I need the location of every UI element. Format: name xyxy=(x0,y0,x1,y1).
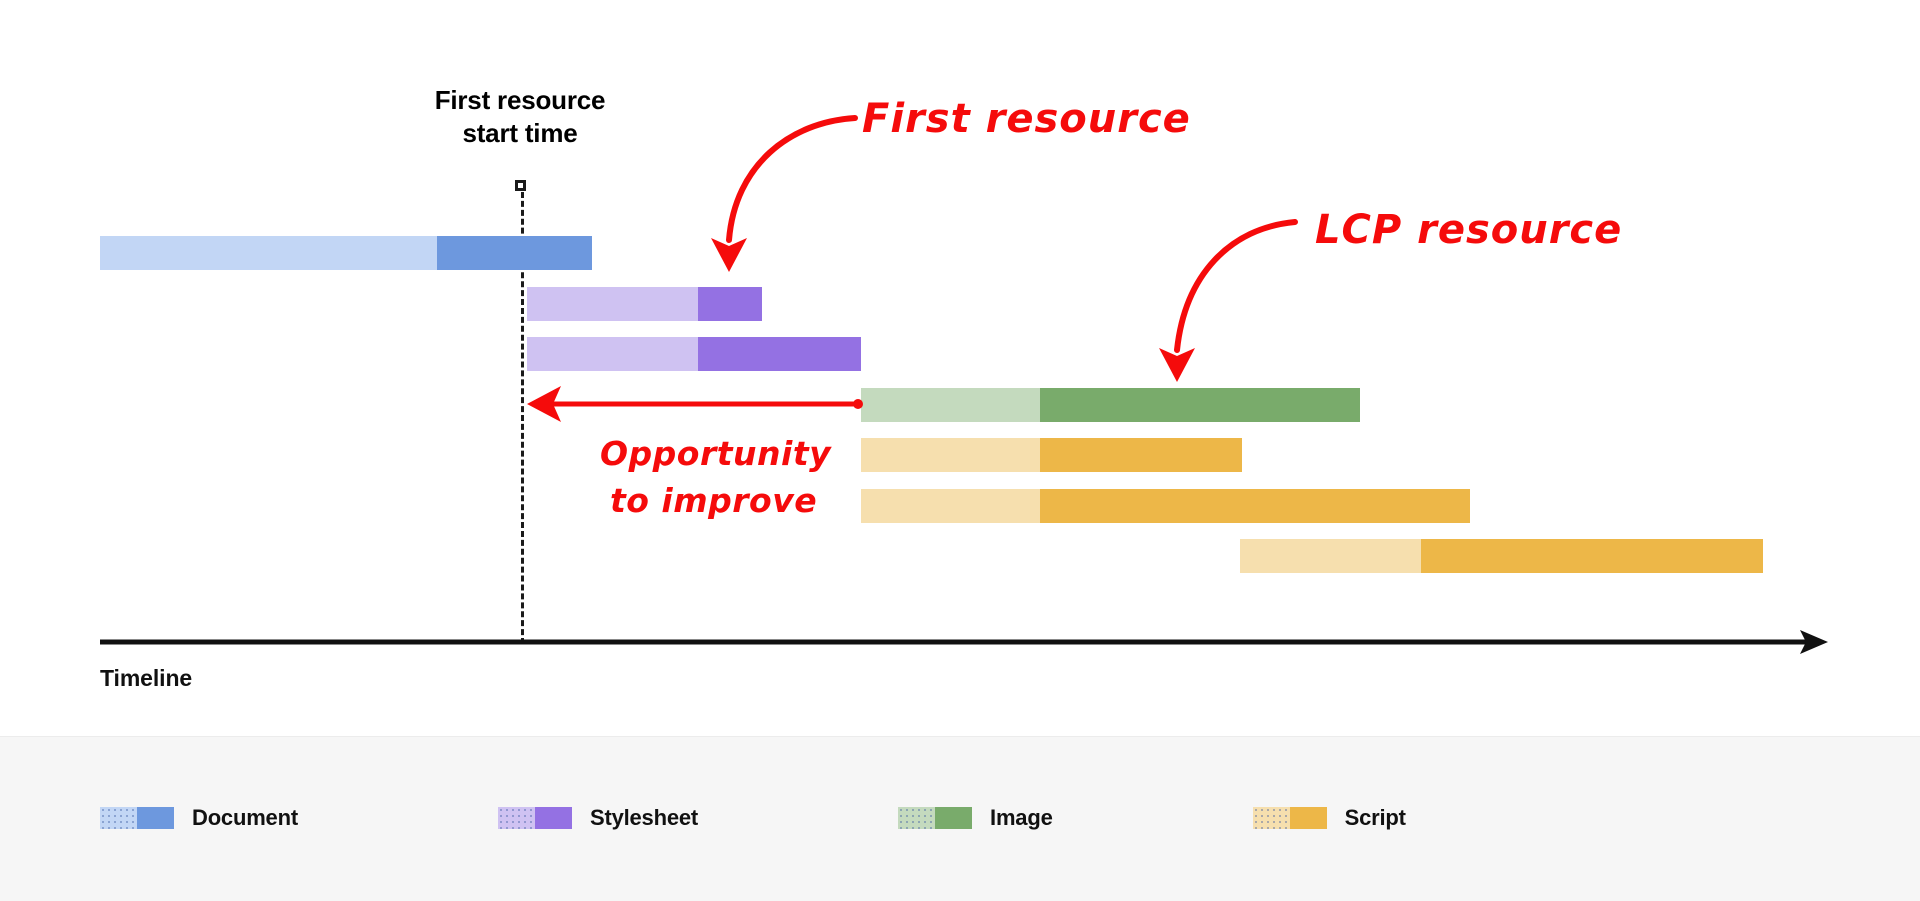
resource-bar[interactable] xyxy=(100,236,592,270)
legend-swatch-dark xyxy=(1290,807,1327,829)
bar-segment-wait xyxy=(100,236,437,270)
bar-segment-load xyxy=(1421,539,1763,573)
bar-segment-wait xyxy=(861,438,1040,472)
legend-swatch-light xyxy=(498,807,535,829)
legend-label: Image xyxy=(990,805,1053,831)
resource-bar[interactable] xyxy=(861,489,1470,523)
legend-swatch-icon xyxy=(100,807,174,829)
marker-handle-icon[interactable] xyxy=(515,180,526,191)
opportunity-callout-line-1: Opportunity xyxy=(600,434,832,473)
bar-segment-load xyxy=(437,236,592,270)
resource-bar[interactable] xyxy=(861,388,1360,422)
legend-label: Script xyxy=(1345,805,1406,831)
bar-segment-load xyxy=(1040,388,1360,422)
legend-items: DocumentStylesheetImageScript xyxy=(100,805,1406,831)
first-resource-start-time-label: First resource start time xyxy=(370,84,670,151)
legend-swatch-light xyxy=(1253,807,1290,829)
legend-swatch-dark xyxy=(137,807,174,829)
bar-segment-wait xyxy=(1240,539,1421,573)
marker-label-line-2: start time xyxy=(370,117,670,150)
bar-segment-wait xyxy=(527,287,698,321)
first-resource-callout-text: First resource xyxy=(862,96,1191,142)
legend-swatch-icon xyxy=(498,807,572,829)
bar-segment-load xyxy=(1040,489,1470,523)
legend-item-script[interactable]: Script xyxy=(1253,805,1406,831)
legend-swatch-light xyxy=(898,807,935,829)
timeline-axis xyxy=(100,630,1828,654)
waterfall-diagram: First resource start time First r xyxy=(0,0,1920,900)
bar-segment-wait xyxy=(527,337,698,371)
resource-bar[interactable] xyxy=(1240,539,1763,573)
legend-swatch-dark xyxy=(935,807,972,829)
marker-label-line-1: First resource xyxy=(370,84,670,117)
legend-swatch-dark xyxy=(535,807,572,829)
bar-segment-wait xyxy=(861,388,1040,422)
timeline-axis-label: Timeline xyxy=(100,665,192,692)
resource-bar[interactable] xyxy=(527,337,861,371)
legend-item-stylesheet[interactable]: Stylesheet xyxy=(498,805,698,831)
opportunity-arrow xyxy=(527,386,863,422)
legend-swatch-icon xyxy=(898,807,972,829)
resource-bar[interactable] xyxy=(527,287,762,321)
annotation-overlay: First resource LCP resource Opportunity … xyxy=(0,0,1920,736)
lcp-resource-callout-text: LCP resource xyxy=(1315,207,1622,253)
chart-plot-area: First resource start time First r xyxy=(0,0,1920,736)
first-resource-callout-arrow xyxy=(711,118,855,272)
legend-label: Stylesheet xyxy=(590,805,698,831)
resource-bar[interactable] xyxy=(861,438,1242,472)
legend-item-document[interactable]: Document xyxy=(100,805,298,831)
legend-item-image[interactable]: Image xyxy=(898,805,1053,831)
lcp-resource-callout-arrow xyxy=(1159,222,1295,382)
bar-segment-load xyxy=(1040,438,1242,472)
bar-segment-load xyxy=(698,287,762,321)
opportunity-callout-line-2: to improve xyxy=(610,481,817,520)
legend-swatch-light xyxy=(100,807,137,829)
legend-swatch-icon xyxy=(1253,807,1327,829)
legend-label: Document xyxy=(192,805,298,831)
legend-bar: DocumentStylesheetImageScript xyxy=(0,736,1920,901)
bar-segment-load xyxy=(698,337,861,371)
bar-segment-wait xyxy=(861,489,1040,523)
